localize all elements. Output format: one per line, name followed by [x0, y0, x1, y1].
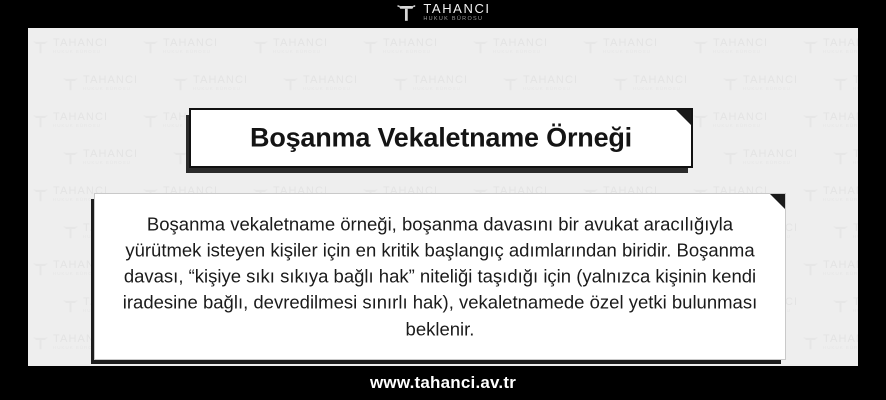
content-area: TAHANCIHUKUK BÜROSUTAHANCIHUKUK BÜROSUTA… [28, 28, 858, 366]
watermark-brand-name: TAHANCI [53, 38, 108, 49]
watermark-text: TAHANCIHUKUK BÜROSU [823, 334, 858, 351]
watermark-brand-subtitle: HUKUK BÜROSU [303, 87, 358, 92]
watermark-brand-name: TAHANCI [853, 75, 858, 86]
title-card: Boşanma Vekaletname Örneği [189, 108, 693, 168]
pillar-column-icon [62, 223, 79, 240]
pillar-column-icon [802, 38, 819, 55]
pillar-column-icon [832, 223, 849, 240]
watermark-brand-subtitle: HUKUK BÜROSU [603, 50, 658, 55]
watermark-text: TAHANCIHUKUK BÜROSU [413, 75, 468, 92]
pillar-column-icon [802, 260, 819, 277]
watermark-brand-name: TAHANCI [83, 149, 138, 160]
pillar-column-icon [392, 75, 409, 92]
watermark-brand-name: TAHANCI [823, 334, 858, 345]
watermark-text: TAHANCIHUKUK BÜROSU [523, 75, 578, 92]
pillar-column-icon [502, 75, 519, 92]
watermark-text: TAHANCIHUKUK BÜROSU [383, 38, 438, 55]
watermark-text: TAHANCIHUKUK BÜROSU [823, 186, 858, 203]
watermark-brand-subtitle: HUKUK BÜROSU [823, 50, 858, 55]
watermark-text: TAHANCIHUKUK BÜROSU [53, 38, 108, 55]
watermark-brand-name: TAHANCI [823, 112, 858, 123]
pillar-column-icon [62, 75, 79, 92]
watermark-brand-subtitle: HUKUK BÜROSU [713, 124, 768, 129]
footer-band: www.tahanci.av.tr [0, 366, 886, 400]
watermark-brand-name: TAHANCI [273, 38, 328, 49]
pillar-column-icon [832, 297, 849, 314]
watermark-text: TAHANCIHUKUK BÜROSU [493, 38, 548, 55]
brand-logo: TAHANCI HUKUK BÜROSU [395, 1, 490, 23]
watermark-text: TAHANCIHUKUK BÜROSU [193, 75, 248, 92]
brand-subtitle: HUKUK BÜROSU [423, 17, 490, 23]
watermark-brand-subtitle: HUKUK BÜROSU [53, 50, 108, 55]
pillar-column-icon [832, 75, 849, 92]
brand-name: TAHANCI [423, 2, 490, 15]
pillar-column-icon [832, 149, 849, 166]
pillar-column-icon [32, 38, 49, 55]
watermark-brand-name: TAHANCI [743, 149, 798, 160]
watermark-text: TAHANCIHUKUK BÜROSU [853, 297, 858, 314]
page-title: Boşanma Vekaletname Örneği [191, 123, 691, 154]
watermark-tile: TAHANCIHUKUK BÜROSU [138, 28, 248, 65]
watermark-tile: TAHANCIHUKUK BÜROSU [798, 250, 858, 287]
watermark-brand-subtitle: HUKUK BÜROSU [523, 87, 578, 92]
watermark-brand-name: TAHANCI [53, 112, 108, 123]
watermark-brand-subtitle: HUKUK BÜROSU [383, 50, 438, 55]
watermark-tile: TAHANCIHUKUK BÜROSU [358, 28, 468, 65]
pillar-column-icon [692, 38, 709, 55]
watermark-tile: TAHANCIHUKUK BÜROSU [138, 65, 248, 102]
watermark-brand-subtitle: HUKUK BÜROSU [633, 87, 688, 92]
watermark-tile: TAHANCIHUKUK BÜROSU [28, 28, 138, 65]
watermark-text: TAHANCIHUKUK BÜROSU [823, 112, 858, 129]
watermark-brand-subtitle: HUKUK BÜROSU [743, 87, 798, 92]
watermark-brand-name: TAHANCI [383, 38, 438, 49]
pillar-column-icon [582, 38, 599, 55]
watermark-tile: TAHANCIHUKUK BÜROSU [688, 28, 798, 65]
pillar-column-icon [172, 149, 189, 166]
website-url: www.tahanci.av.tr [370, 373, 516, 393]
watermark-brand-name: TAHANCI [633, 75, 688, 86]
watermark-tile: TAHANCIHUKUK BÜROSU [688, 139, 798, 176]
watermark-brand-name: TAHANCI [493, 38, 548, 49]
watermark-brand-subtitle: HUKUK BÜROSU [853, 87, 858, 92]
watermark-text: TAHANCIHUKUK BÜROSU [713, 112, 768, 129]
watermark-brand-name: TAHANCI [713, 38, 768, 49]
watermark-brand-subtitle: HUKUK BÜROSU [713, 50, 768, 55]
watermark-tile: TAHANCIHUKUK BÜROSU [28, 102, 138, 139]
pillar-column-icon [802, 334, 819, 351]
watermark-brand-name: TAHANCI [823, 260, 858, 271]
watermark-tile: TAHANCIHUKUK BÜROSU [798, 287, 858, 324]
watermark-tile: TAHANCIHUKUK BÜROSU [468, 28, 578, 65]
pillar-column-icon [802, 186, 819, 203]
watermark-tile: TAHANCIHUKUK BÜROSU [358, 65, 468, 102]
watermark-text: TAHANCIHUKUK BÜROSU [603, 38, 658, 55]
pillar-column-icon [692, 112, 709, 129]
pillar-column-icon [472, 38, 489, 55]
watermark-brand-subtitle: HUKUK BÜROSU [853, 309, 858, 314]
watermark-tile: TAHANCIHUKUK BÜROSU [798, 324, 858, 361]
watermark-brand-subtitle: HUKUK BÜROSU [823, 346, 858, 351]
pillar-column-icon [395, 1, 417, 23]
watermark-brand-name: TAHANCI [523, 75, 578, 86]
pillar-column-icon [142, 38, 159, 55]
pillar-column-icon [32, 186, 49, 203]
watermark-brand-name: TAHANCI [823, 38, 858, 49]
watermark-brand-name: TAHANCI [603, 38, 658, 49]
watermark-brand-subtitle: HUKUK BÜROSU [413, 87, 468, 92]
watermark-brand-subtitle: HUKUK BÜROSU [823, 272, 858, 277]
watermark-text: TAHANCIHUKUK BÜROSU [633, 75, 688, 92]
watermark-tile: TAHANCIHUKUK BÜROSU [468, 65, 578, 102]
watermark-brand-subtitle: HUKUK BÜROSU [53, 124, 108, 129]
pillar-column-icon [252, 38, 269, 55]
watermark-tile: TAHANCIHUKUK BÜROSU [688, 102, 798, 139]
watermark-tile: TAHANCIHUKUK BÜROSU [798, 102, 858, 139]
watermark-brand-name: TAHANCI [853, 297, 858, 308]
watermark-brand-subtitle: HUKUK BÜROSU [83, 161, 138, 166]
watermark-brand-subtitle: HUKUK BÜROSU [273, 50, 328, 55]
slide-canvas: TAHANCI HUKUK BÜROSU TAHANCIHUKUK BÜROSU… [0, 0, 886, 400]
watermark-tile: TAHANCIHUKUK BÜROSU [28, 65, 138, 102]
watermark-brand-subtitle: HUKUK BÜROSU [163, 50, 218, 55]
watermark-tile: TAHANCIHUKUK BÜROSU [28, 139, 138, 176]
watermark-text: TAHANCIHUKUK BÜROSU [83, 149, 138, 166]
pillar-column-icon [722, 149, 739, 166]
watermark-tile: TAHANCIHUKUK BÜROSU [798, 28, 858, 65]
pillar-column-icon [362, 38, 379, 55]
watermark-text: TAHANCIHUKUK BÜROSU [853, 149, 858, 166]
watermark-text: TAHANCIHUKUK BÜROSU [823, 38, 858, 55]
watermark-text: TAHANCIHUKUK BÜROSU [853, 223, 858, 240]
brand-logo-text: TAHANCI HUKUK BÜROSU [423, 2, 490, 23]
watermark-brand-name: TAHANCI [713, 112, 768, 123]
body-paragraph: Boşanma vekaletname örneği, boşanma dava… [95, 211, 785, 342]
watermark-brand-name: TAHANCI [853, 149, 858, 160]
watermark-brand-subtitle: HUKUK BÜROSU [493, 50, 548, 55]
watermark-tile: TAHANCIHUKUK BÜROSU [578, 28, 688, 65]
watermark-text: TAHANCIHUKUK BÜROSU [853, 75, 858, 92]
pillar-column-icon [32, 112, 49, 129]
pillar-column-icon [32, 334, 49, 351]
watermark-tile: TAHANCIHUKUK BÜROSU [798, 213, 858, 250]
watermark-text: TAHANCIHUKUK BÜROSU [303, 75, 358, 92]
pillar-column-icon [62, 149, 79, 166]
watermark-text: TAHANCIHUKUK BÜROSU [823, 260, 858, 277]
watermark-text: TAHANCIHUKUK BÜROSU [713, 38, 768, 55]
watermark-text: TAHANCIHUKUK BÜROSU [743, 75, 798, 92]
watermark-brand-name: TAHANCI [413, 75, 468, 86]
pillar-column-icon [32, 260, 49, 277]
watermark-brand-name: TAHANCI [743, 75, 798, 86]
watermark-brand-subtitle: HUKUK BÜROSU [823, 124, 858, 129]
body-card: Boşanma vekaletname örneği, boşanma dava… [94, 193, 786, 360]
watermark-tile: TAHANCIHUKUK BÜROSU [798, 176, 858, 213]
watermark-text: TAHANCIHUKUK BÜROSU [163, 38, 218, 55]
watermark-brand-subtitle: HUKUK BÜROSU [853, 235, 858, 240]
pillar-column-icon [172, 75, 189, 92]
watermark-tile: TAHANCIHUKUK BÜROSU [798, 139, 858, 176]
pillar-column-icon [802, 112, 819, 129]
pillar-column-icon [62, 297, 79, 314]
watermark-tile: TAHANCIHUKUK BÜROSU [248, 28, 358, 65]
watermark-brand-name: TAHANCI [163, 38, 218, 49]
watermark-tile: TAHANCIHUKUK BÜROSU [798, 65, 858, 102]
folded-corner-icon [770, 194, 785, 209]
watermark-brand-name: TAHANCI [853, 223, 858, 234]
watermark-tile: TAHANCIHUKUK BÜROSU [688, 65, 798, 102]
header-band: TAHANCI HUKUK BÜROSU [0, 0, 886, 28]
pillar-column-icon [612, 75, 629, 92]
watermark-brand-name: TAHANCI [303, 75, 358, 86]
watermark-brand-subtitle: HUKUK BÜROSU [743, 161, 798, 166]
watermark-brand-name: TAHANCI [193, 75, 248, 86]
watermark-brand-subtitle: HUKUK BÜROSU [193, 87, 248, 92]
watermark-brand-subtitle: HUKUK BÜROSU [83, 87, 138, 92]
pillar-column-icon [282, 75, 299, 92]
watermark-tile: TAHANCIHUKUK BÜROSU [578, 65, 688, 102]
watermark-brand-name: TAHANCI [83, 75, 138, 86]
watermark-text: TAHANCIHUKUK BÜROSU [83, 75, 138, 92]
pillar-column-icon [142, 112, 159, 129]
watermark-tile: TAHANCIHUKUK BÜROSU [248, 65, 358, 102]
watermark-brand-subtitle: HUKUK BÜROSU [823, 198, 858, 203]
pillar-column-icon [722, 75, 739, 92]
watermark-brand-name: TAHANCI [823, 186, 858, 197]
watermark-brand-subtitle: HUKUK BÜROSU [853, 161, 858, 166]
watermark-text: TAHANCIHUKUK BÜROSU [743, 149, 798, 166]
watermark-text: TAHANCIHUKUK BÜROSU [273, 38, 328, 55]
watermark-text: TAHANCIHUKUK BÜROSU [53, 112, 108, 129]
